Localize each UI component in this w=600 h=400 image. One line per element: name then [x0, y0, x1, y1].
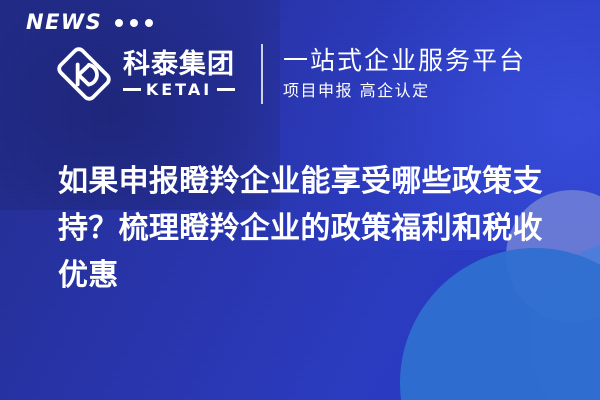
tagline-block: 一站式企业服务平台 项目申报 高企认定 [283, 46, 526, 102]
news-label: NEWS [26, 12, 102, 33]
tagline-main: 一站式企业服务平台 [283, 46, 526, 77]
wordmark-rule-right [217, 88, 235, 91]
wordmark-rule-left [123, 88, 141, 91]
news-eyebrow: NEWS [26, 12, 153, 33]
ketai-diamond-monogram-icon [55, 45, 113, 103]
news-dot [130, 19, 138, 27]
news-banner: NEWS 科泰集团 KETAI [0, 0, 600, 400]
news-dot [145, 19, 153, 27]
brand-logo: 科泰集团 KETAI [55, 45, 235, 103]
brand-wordmark: 科泰集团 KETAI [123, 50, 235, 97]
brand-name-cn: 科泰集团 [123, 50, 235, 79]
brand-name-en: KETAI [146, 82, 212, 98]
vertical-divider [261, 44, 263, 104]
brand-lockup: 科泰集团 KETAI 一站式企业服务平台 项目申报 高企认定 [55, 44, 526, 104]
article-headline: 如果申报瞪羚企业能享受哪些政策支持？梳理瞪羚企业的政策福利和税收优惠 [58, 158, 558, 299]
news-dot [115, 19, 123, 27]
news-dots-icon [115, 19, 153, 27]
tagline-sub: 项目申报 高企认定 [283, 80, 526, 102]
brand-name-en-row: KETAI [123, 82, 235, 98]
